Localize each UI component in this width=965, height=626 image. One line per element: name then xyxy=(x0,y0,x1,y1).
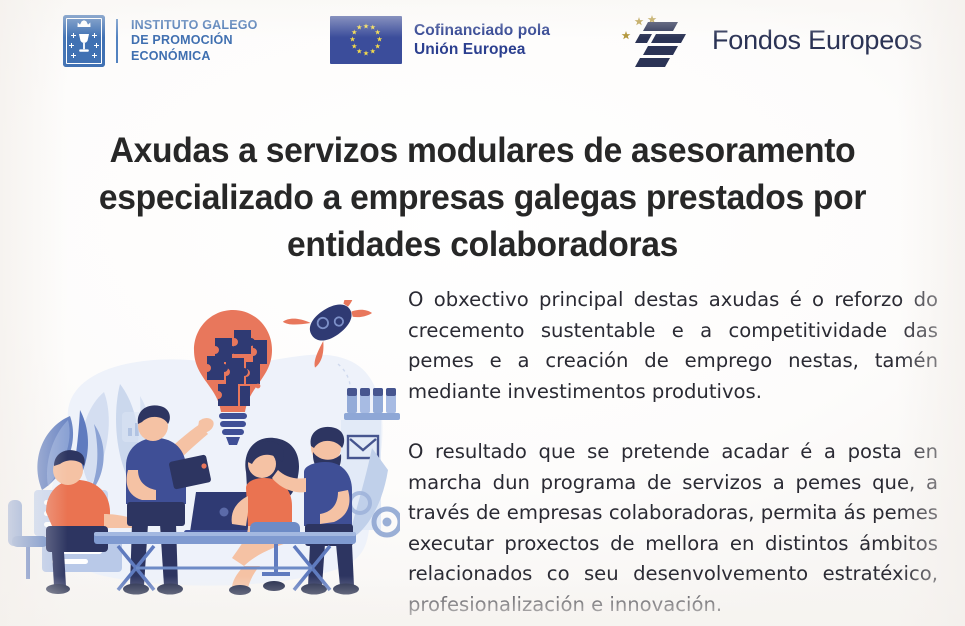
eu-flag-icon: ★★★★★★★★★★★★ xyxy=(330,16,402,64)
chalice-icon xyxy=(76,32,92,54)
igape-logo: INSTITUTO GALEGO DE PROMOCIÓN ECONÓMICA xyxy=(63,15,258,67)
eu-star-icon: ★ xyxy=(349,37,355,44)
body-copy: O obxectivo principal destas axudas é o … xyxy=(408,285,938,620)
igape-line-1: INSTITUTO GALEGO xyxy=(131,18,258,34)
flyer-page: INSTITUTO GALEGO DE PROMOCIÓN ECONÓMICA … xyxy=(0,0,965,626)
galicia-coat-of-arms-icon xyxy=(63,15,105,67)
funding-logo-strip: INSTITUTO GALEGO DE PROMOCIÓN ECONÓMICA … xyxy=(0,0,965,88)
eu-logo-text: Cofinanciado pola Unión Europea xyxy=(414,21,550,59)
fondos-europeos-logo: Fondos Europeos xyxy=(618,8,922,72)
eu-star-icon: ★ xyxy=(363,50,369,57)
fondos-europeos-mark-icon xyxy=(618,8,702,72)
eu-star-icon: ★ xyxy=(351,43,357,50)
igape-line-2: DE PROMOCIÓN xyxy=(131,33,258,49)
logo-divider xyxy=(116,19,118,63)
fondos-europeos-label: Fondos Europeos xyxy=(712,25,922,56)
eu-line-1: Cofinanciado pola xyxy=(414,21,550,40)
page-title: Axudas a servizos modulares de asesorame… xyxy=(58,127,908,268)
eu-star-icon: ★ xyxy=(356,25,362,32)
paragraph-objective: O obxectivo principal destas axudas é o … xyxy=(408,285,938,407)
igape-logo-text: INSTITUTO GALEGO DE PROMOCIÓN ECONÓMICA xyxy=(131,18,258,65)
eu-star-icon: ★ xyxy=(363,23,369,30)
business-team-meeting-illustration xyxy=(8,300,400,616)
crown-icon xyxy=(77,20,92,28)
paragraph-result: O resultado que se pretende acadar é a p… xyxy=(408,437,938,620)
igape-line-3: ECONÓMICA xyxy=(131,49,258,65)
eu-line-2: Unión Europea xyxy=(414,40,550,59)
eu-star-icon: ★ xyxy=(370,48,376,55)
stairs-bars-icon xyxy=(635,22,686,67)
eu-cofunding-logo: ★★★★★★★★★★★★ Cofinanciado pola Unión Eur… xyxy=(330,16,550,64)
